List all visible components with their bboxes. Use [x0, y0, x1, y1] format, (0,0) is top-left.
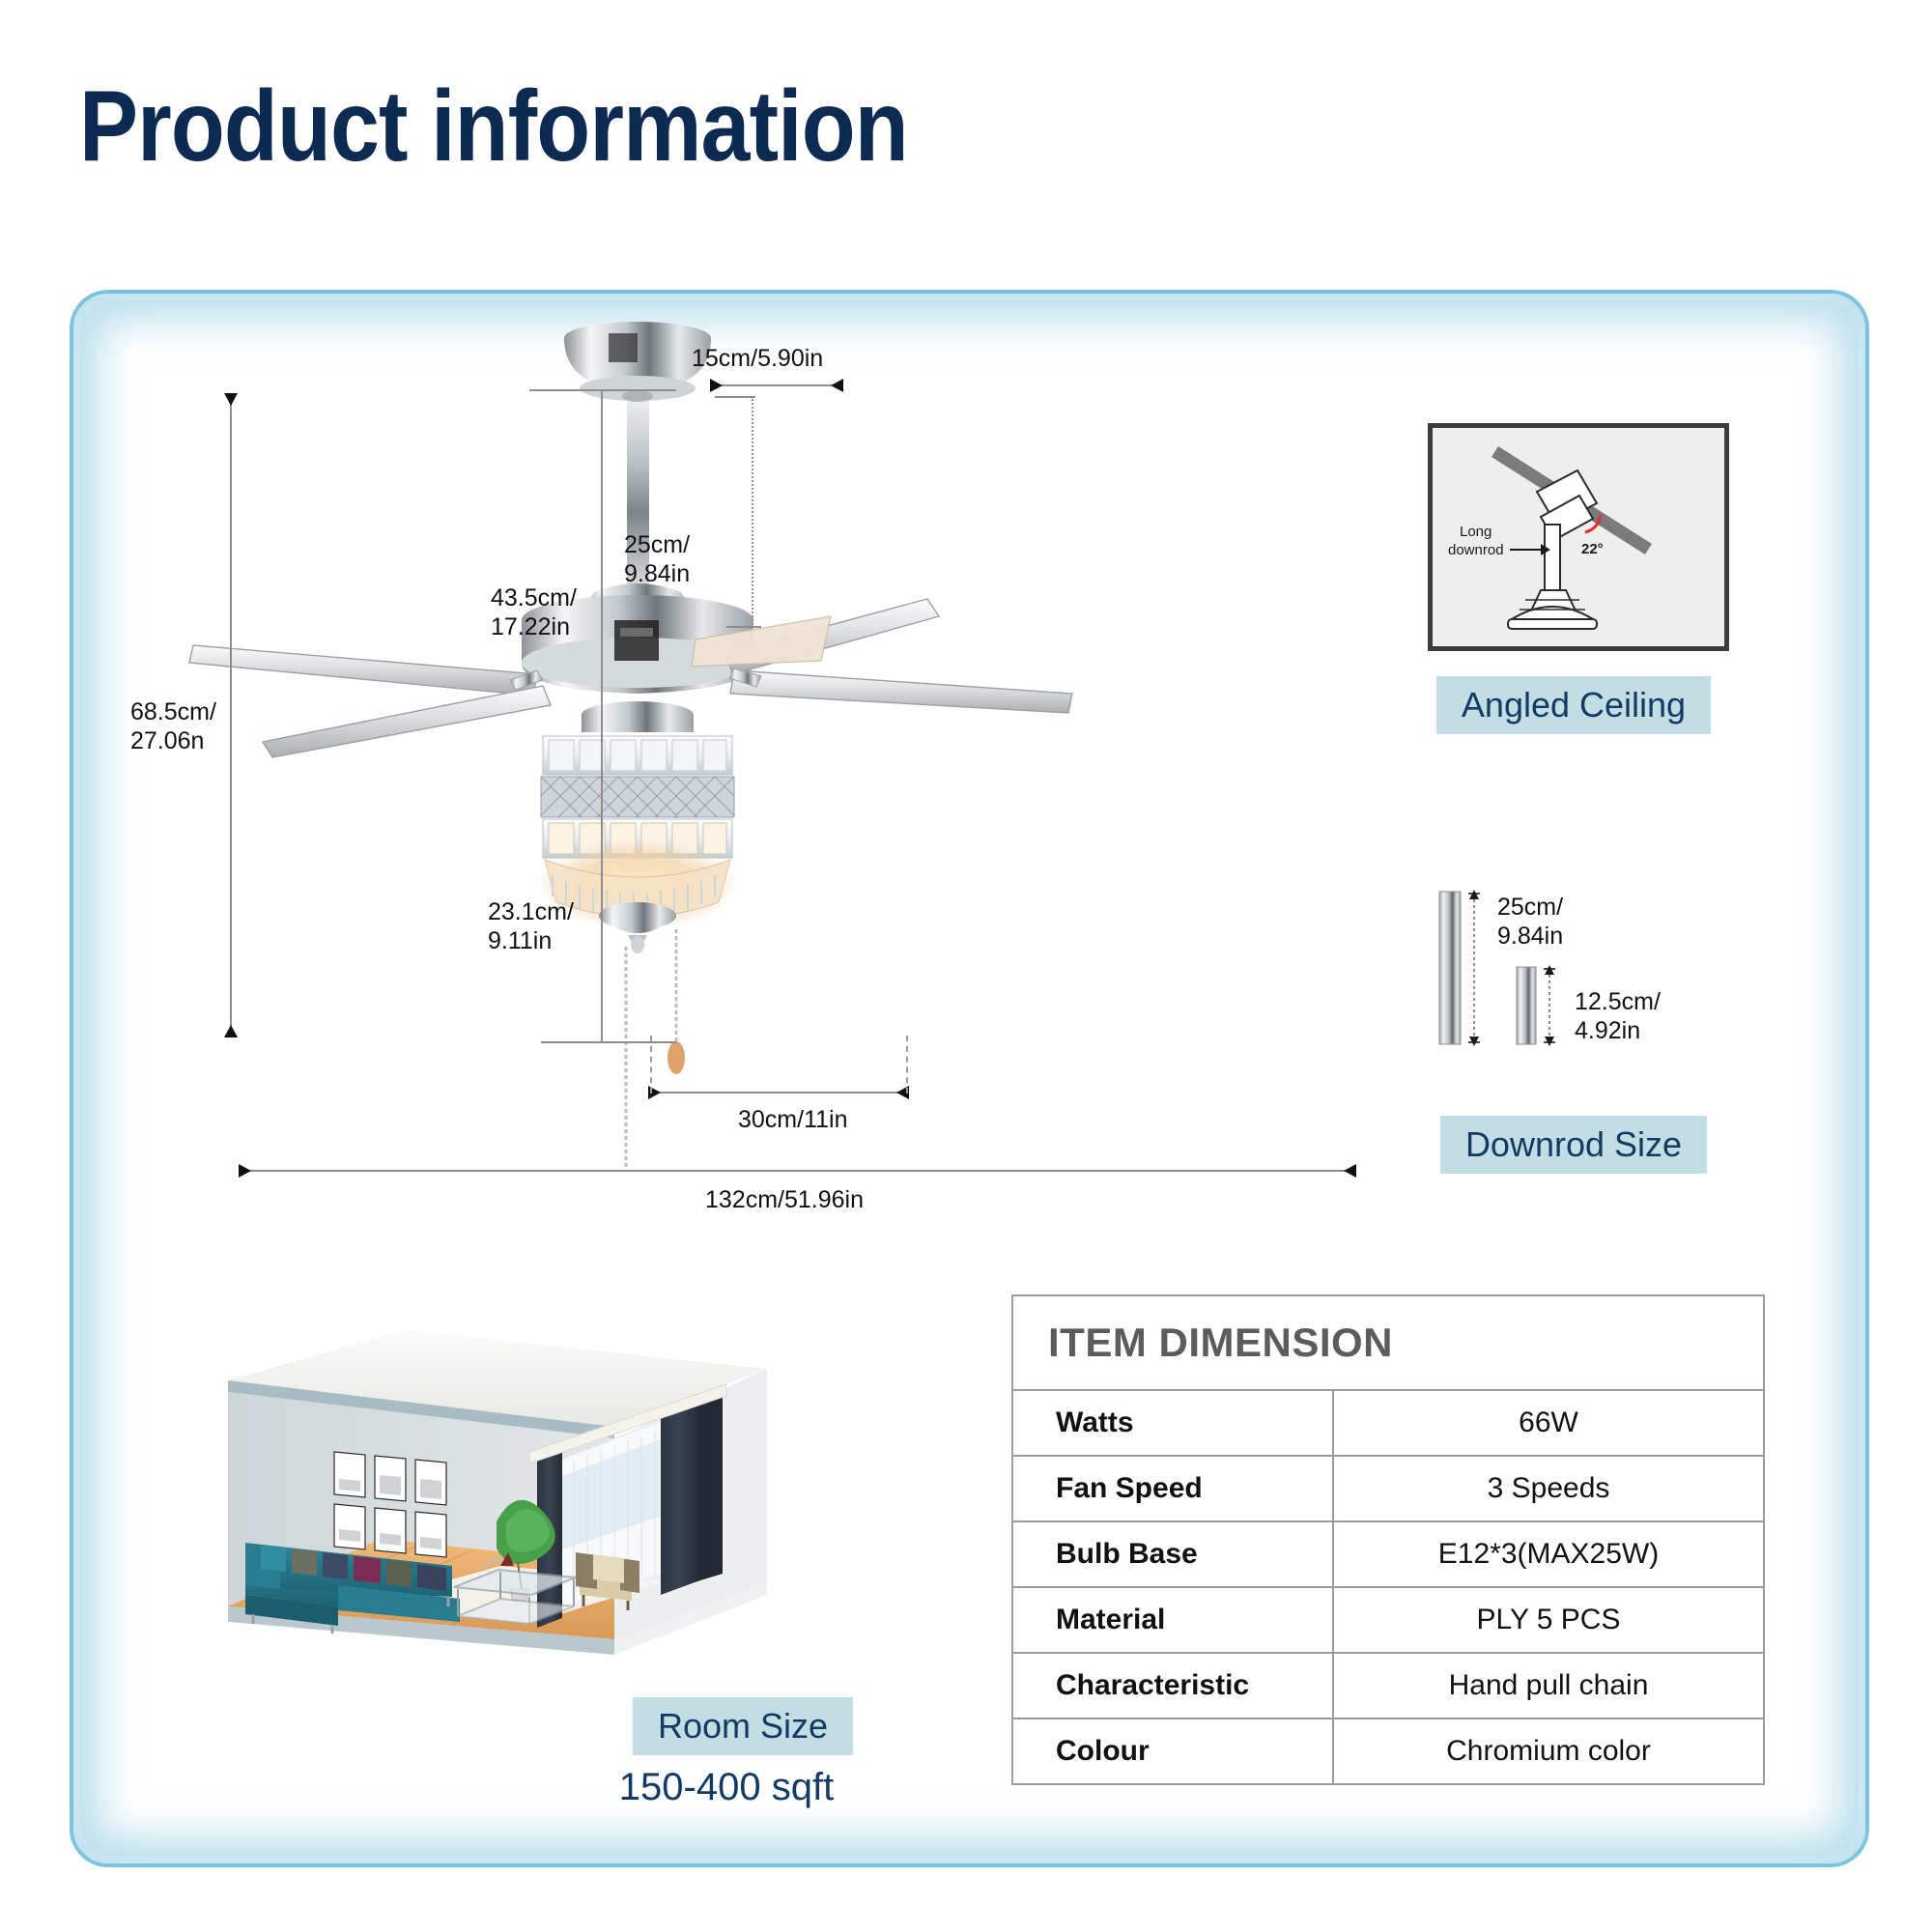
- dim-downrod-bottom-tick: [726, 626, 761, 628]
- row-value-material: PLY 5 PCS: [1333, 1587, 1764, 1653]
- downrod-short-label: 12.5cm/ 4.92in: [1575, 988, 1661, 1045]
- table-header-row: ITEM DIMENSION: [1012, 1295, 1764, 1390]
- row-key-colour: Colour: [1012, 1719, 1333, 1784]
- table-row: Watts 66W: [1012, 1390, 1764, 1456]
- svg-text:Long: Long: [1460, 524, 1492, 540]
- room-size-caption: Room Size: [633, 1697, 853, 1755]
- row-key-characteristic: Characteristic: [1012, 1653, 1333, 1719]
- svg-text:22°: 22°: [1581, 541, 1604, 557]
- row-key-bulb-base: Bulb Base: [1012, 1521, 1333, 1587]
- dim-top-to-blades-line: [601, 391, 603, 1043]
- angled-ceiling-diagram: 22° Long downrod: [1428, 423, 1729, 651]
- row-key-watts: Watts: [1012, 1390, 1333, 1456]
- dim-total-height: 68.5cm/ 27.06n: [130, 698, 216, 755]
- item-dimension-table-body: ITEM DIMENSION Watts 66W Fan Speed 3 Spe…: [1012, 1295, 1764, 1784]
- dim-lightkit-height: 23.1cm/ 9.11in: [488, 898, 574, 955]
- table-row: Material PLY 5 PCS: [1012, 1587, 1764, 1653]
- row-value-bulb-base: E12*3(MAX25W): [1333, 1521, 1764, 1587]
- row-value-colour: Chromium color: [1333, 1719, 1764, 1784]
- room-size-value: 150-400 sqft: [615, 1766, 838, 1809]
- page-title: Product information: [79, 70, 908, 185]
- downrod-size-diagram: [1420, 874, 1739, 1096]
- table-row: Characteristic Hand pull chain: [1012, 1653, 1764, 1719]
- svg-text:downrod: downrod: [1448, 542, 1504, 558]
- dim-lightkit-width: 30cm/11in: [738, 1106, 848, 1135]
- table-row: Bulb Base E12*3(MAX25W): [1012, 1521, 1764, 1587]
- dim-downrod-drop: 25cm/ 9.84in: [624, 531, 690, 588]
- angled-ceiling-caption: Angled Ceiling: [1436, 676, 1711, 734]
- dim-lightkit-width-arrow: [649, 1092, 908, 1094]
- item-dimension-table: ITEM DIMENSION Watts 66W Fan Speed 3 Spe…: [1011, 1294, 1765, 1785]
- table-row: Colour Chromium color: [1012, 1719, 1764, 1784]
- dim-top-to-blades: 43.5cm/ 17.22in: [491, 584, 577, 641]
- dim-canopy-width-arrow: [711, 384, 842, 386]
- row-value-fan-speed: 3 Speeds: [1333, 1456, 1764, 1521]
- room-size-illustration: [211, 1299, 781, 1681]
- dim-lightkit-right-ext: [906, 1036, 908, 1094]
- dim-downrod-top-tick: [715, 396, 755, 398]
- room-size-caption-wrap: Room Size: [633, 1697, 853, 1755]
- downrod-caption-wrap: Downrod Size: [1428, 1116, 1719, 1174]
- row-key-fan-speed: Fan Speed: [1012, 1456, 1333, 1521]
- dim-lightkit-left-ext: [650, 1036, 652, 1094]
- row-value-watts: 66W: [1333, 1390, 1764, 1456]
- downrod-long-label: 25cm/ 9.84in: [1497, 894, 1563, 951]
- angled-ceiling-caption-wrap: Angled Ceiling: [1428, 676, 1719, 734]
- dim-total-height-arrow: [230, 394, 232, 1037]
- dim-downrod-drop-line: [752, 396, 753, 628]
- dim-blade-span: 132cm/51.96in: [705, 1186, 864, 1215]
- angled-ceiling-svg: 22° Long downrod: [1433, 428, 1724, 646]
- product-information-page: Product information: [0, 0, 1932, 1932]
- row-value-characteristic: Hand pull chain: [1333, 1653, 1764, 1719]
- downrod-caption: Downrod Size: [1440, 1116, 1707, 1174]
- dim-canopy-width: 15cm/5.90in: [692, 345, 823, 374]
- table-row: Fan Speed 3 Speeds: [1012, 1456, 1764, 1521]
- dim-blades-tick: [541, 1041, 676, 1043]
- ceiling-fan-illustration: [155, 280, 1121, 1169]
- dim-blade-span-arrow: [240, 1170, 1355, 1172]
- row-key-material: Material: [1012, 1587, 1333, 1653]
- dim-top-tick: [529, 389, 676, 391]
- item-dimension-header: ITEM DIMENSION: [1012, 1295, 1764, 1390]
